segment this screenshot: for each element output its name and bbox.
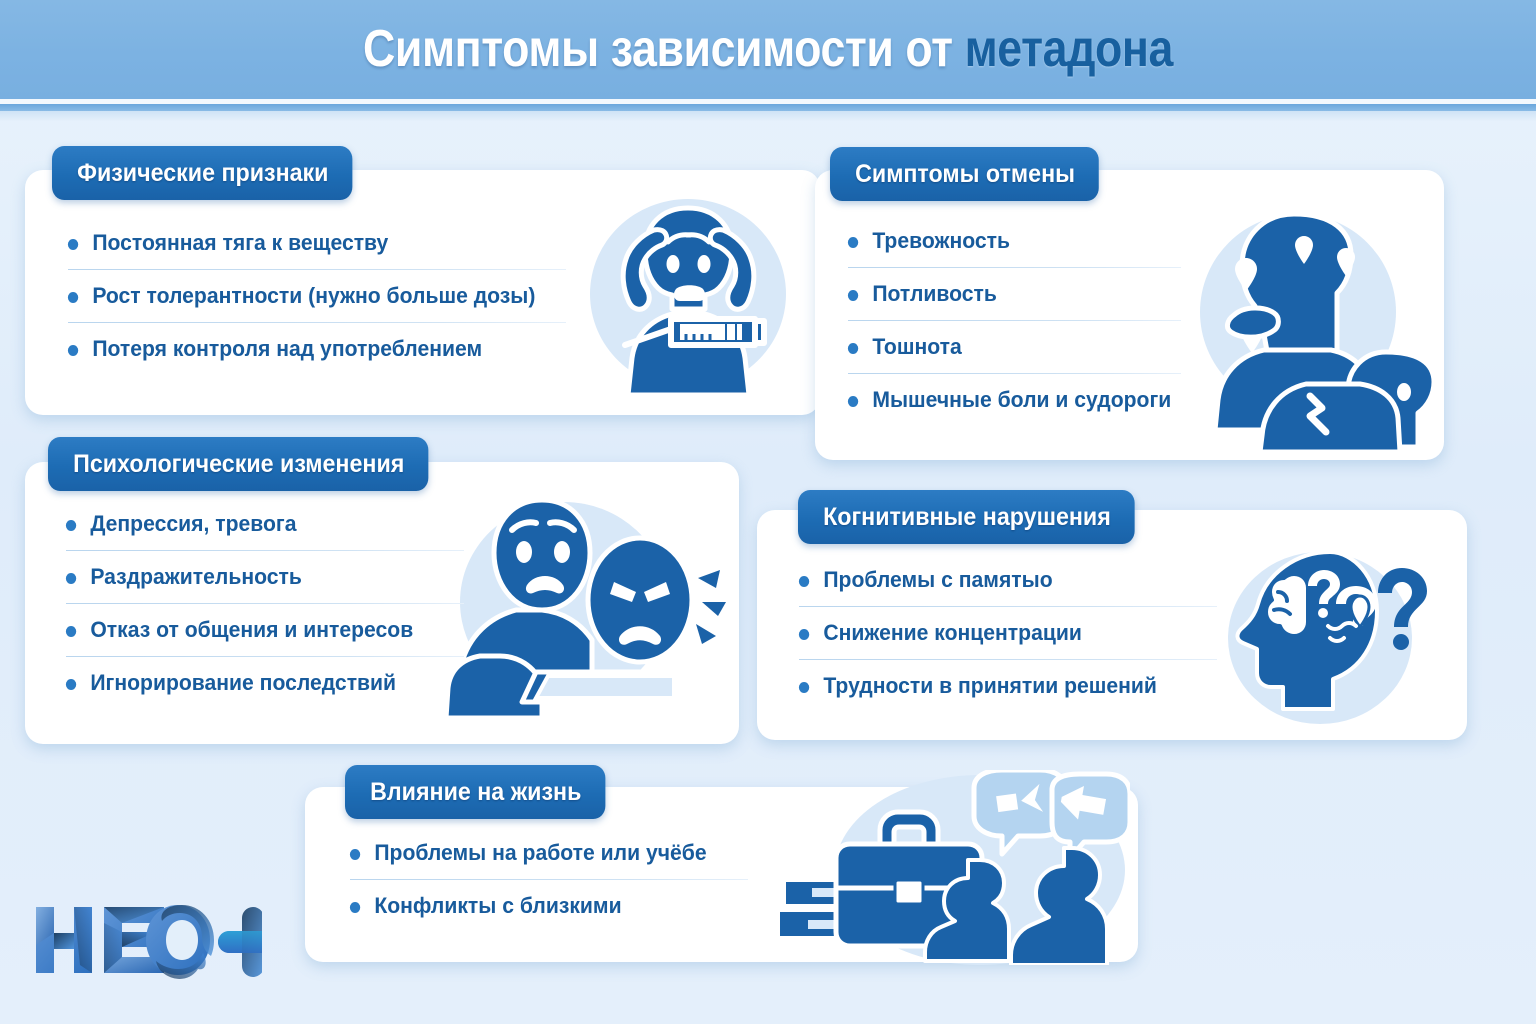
list-item: Рост толерантности (нужно больше дозы) [66,281,536,311]
list-item-label: Депрессия, тревога [90,511,296,536]
list-item-label: Тошнота [872,334,961,359]
bullet-dot-icon [848,290,858,301]
list-divider [848,267,1181,268]
list-item: Потливость [846,279,1161,309]
list-item: Трудности в принятии решений [797,671,1192,701]
bullet-dot-icon [68,292,78,303]
list-item: Проблемы с памятыо [797,565,1192,595]
bullet-dot-icon [799,682,809,693]
list-item: Проблемы на работе или учёбе [348,838,724,868]
card-cognitive-impairment-list: Проблемы с памятыо Снижение концентрации… [797,565,1217,701]
list-item: Потеря контроля над употреблением [66,334,536,364]
list-item: Постоянная тяга к веществу [66,228,536,258]
list-item-label: Снижение концентрации [823,620,1082,645]
bullet-dot-icon [799,576,809,587]
list-divider [66,603,464,604]
bullet-dot-icon [848,343,858,354]
list-item-label: Рост толерантности (нужно больше дозы) [92,283,535,308]
card-physical-signs-list: Постоянная тяга к веществу Рост толерант… [66,228,566,364]
list-item-label: Постоянная тяга к веществу [92,230,388,255]
list-item-label: Проблемы на работе или учёбе [374,840,706,865]
list-item: Тошнота [846,332,1161,362]
list-divider [799,659,1217,660]
bullet-dot-icon [799,629,809,640]
card-psychological-changes-badge: Психологические изменения [48,437,429,491]
bullet-dot-icon [66,573,76,584]
list-item: Раздражительность [64,562,440,592]
list-item-label: Потливость [872,281,997,306]
bullet-dot-icon [68,239,78,250]
stressed-person-with-syringe-icon [576,190,801,395]
head-with-brain-and-question-marks-icon [1212,540,1442,730]
list-item: Конфликты с близкими [348,891,724,921]
list-divider [848,320,1181,321]
neo-plus-logo [30,893,262,985]
list-item-label: Тревожность [872,228,1010,253]
list-divider [66,656,464,657]
list-divider [68,269,566,270]
card-physical-signs-badge: Физические признаки [52,146,353,200]
list-item: Игнорирование последствий [64,668,440,698]
briefcase-books-and-arguing-people-icon [730,770,1130,965]
bullet-dot-icon [848,237,858,248]
card-life-impact-list: Проблемы на работе или учёбе Конфликты с… [348,838,748,921]
page-title: Симптомы зависимости от метадона [108,12,1429,86]
bullet-dot-icon [350,849,360,860]
bullet-dot-icon [350,902,360,913]
card-withdrawal-symptoms-badge: Симптомы отмены [830,147,1099,201]
list-item-label: Игнорирование последствий [90,670,396,695]
list-divider [66,550,464,551]
list-item-label: Потеря контроля над употреблением [92,336,482,361]
bullet-dot-icon [66,520,76,531]
bullet-dot-icon [66,626,76,637]
list-item-label: Трудности в принятии решений [823,673,1157,698]
bullet-dot-icon [848,396,858,407]
list-item-label: Мышечные боли и судороги [872,387,1171,412]
list-item: Отказ от общения и интересов [64,615,440,645]
list-item: Тревожность [846,226,1161,256]
card-withdrawal-symptoms-list: Тревожность Потливость Тошнота Мышечные … [846,226,1181,415]
sad-and-angry-faces-icon [432,490,732,725]
list-item-label: Проблемы с памятыо [823,567,1052,592]
list-divider [848,373,1181,374]
list-item-label: Отказ от общения и интересов [90,617,413,642]
bullet-dot-icon [68,345,78,356]
header-divider-blue [0,104,1536,111]
card-cognitive-impairment-badge: Когнитивные нарушения [798,490,1135,544]
sweating-nauseous-person-icon [1186,200,1436,455]
bullet-dot-icon [66,679,76,690]
list-item-label: Раздражительность [90,564,302,589]
list-divider [68,322,566,323]
infographic-poster: Симптомы зависимости от метадона Физичес… [0,0,1536,1024]
card-life-impact-badge: Влияние на жизнь [345,765,606,819]
header-divider-fade [0,111,1536,121]
list-item-label: Конфликты с близкими [374,893,621,918]
card-psychological-changes-list: Депрессия, тревога Раздражительность Отк… [64,509,464,698]
list-item: Снижение концентрации [797,618,1192,648]
list-divider [799,606,1217,607]
list-item: Мышечные боли и судороги [846,385,1161,415]
page-title-accent: метадона [965,20,1173,78]
page-title-plain: Симптомы зависимости от [363,20,965,78]
list-divider [350,879,748,880]
list-item: Депрессия, тревога [64,509,440,539]
